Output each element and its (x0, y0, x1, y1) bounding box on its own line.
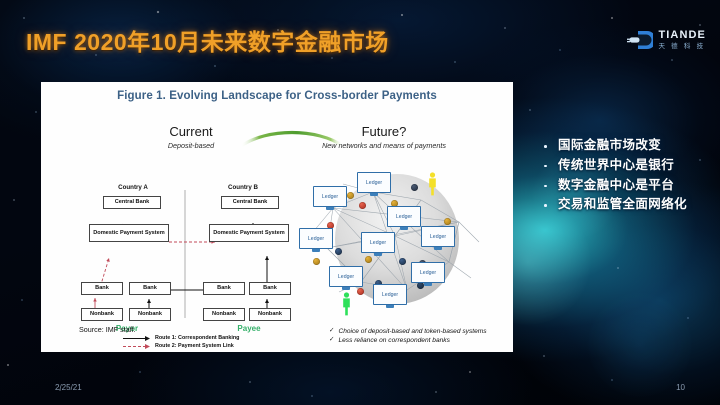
node-bank-b1: Bank (203, 282, 245, 295)
page-title: IMF 2020年10月未来数字金融市场 (26, 23, 389, 57)
tiande-plug-logo-icon (627, 29, 653, 51)
benefit-item: ✓ Less reliance on correspondent banks (329, 337, 487, 344)
solid-arrow-icon (123, 335, 151, 342)
ledger-node: Ledger (313, 186, 347, 207)
network-node-dot (444, 218, 451, 225)
current-subheading-text: Deposit-based (131, 141, 251, 150)
ledger-node: Ledger (373, 284, 407, 305)
footer-date: 2/25/21 (55, 383, 82, 392)
network-node-dot (399, 258, 406, 265)
node-bank-b2: Bank (249, 282, 291, 295)
network-node-dot (357, 288, 364, 295)
future-subheading-text: New networks and means of payments (299, 141, 469, 150)
benefit-item: ✓ Choice of deposit-based and token-base… (329, 328, 487, 335)
node-central-bank-b: Central Bank (221, 196, 279, 209)
network-node-dot (411, 184, 418, 191)
slide-canvas: IMF 2020年10月未来数字金融市场 TIANDE 天 德 科 技 Figu… (0, 0, 720, 405)
dashed-arrow-icon (123, 343, 151, 350)
bullet-item-0: 国际金融市场改变 (536, 138, 712, 154)
person-yellow-icon (427, 172, 438, 196)
node-nonbank-a1: Nonbank (81, 308, 123, 321)
future-column-heading: Future? New networks and means of paymen… (299, 124, 469, 150)
legend-row-route2: Route 2: Payment System Link (123, 342, 239, 350)
ledger-node: Ledger (421, 226, 455, 247)
legend-row-route1: Route 1: Correspondent Banking (123, 334, 239, 342)
figure-body: Current Deposit-based Future? Ne (41, 102, 513, 340)
route-legend: Route 1: Correspondent Banking Route 2: … (123, 334, 239, 350)
network-node-dot (313, 258, 320, 265)
figure-panel: Figure 1. Evolving Landscape for Cross-b… (41, 82, 513, 352)
ledger-node: Ledger (299, 228, 333, 249)
node-domestic-payment-system-b: Domestic Payment System (209, 224, 289, 242)
brand-logo: TIANDE 天 德 科 技 (627, 29, 706, 51)
current-system-diagram: Country A Country B Central Bank Domesti… (81, 186, 294, 331)
legend-route1-text: Route 1: Correspondent Banking (155, 335, 239, 341)
bullet-item-3: 交易和监管全面网络化 (536, 197, 712, 213)
figure-title: Figure 1. Evolving Landscape for Cross-b… (41, 90, 513, 102)
check-icon: ✓ (329, 328, 334, 335)
ledger-node: Ledger (411, 262, 445, 283)
benefit-text: Less reliance on correspondent banks (338, 337, 449, 344)
legend-route2-text: Route 2: Payment System Link (155, 343, 234, 349)
current-column-heading: Current Deposit-based (131, 124, 251, 150)
node-central-bank-a: Central Bank (103, 196, 161, 209)
network-node-dot (417, 282, 424, 289)
check-icon: ✓ (329, 337, 334, 344)
network-node-dot (365, 256, 372, 263)
future-network-diagram: Ledger Ledger Ledger Ledger Ledger Ledge… (299, 170, 507, 320)
node-nonbank-b2: Nonbank (249, 308, 291, 321)
ledger-node: Ledger (387, 206, 421, 227)
network-node-dot (347, 192, 354, 199)
logo-name-cn: 天 德 科 技 (658, 44, 706, 51)
ledger-node: Ledger (361, 232, 395, 253)
network-node-dot (359, 202, 366, 209)
bullet-item-2: 数字金融中心是平台 (536, 178, 712, 194)
footer-page-number: 10 (676, 383, 685, 392)
benefit-text: Choice of deposit-based and token-based … (338, 328, 486, 335)
logo-name: TIANDE (658, 30, 706, 41)
node-nonbank-b1: Nonbank (203, 308, 245, 321)
ledger-node: Ledger (329, 266, 363, 287)
payee-label: Payee (219, 324, 279, 333)
ledger-node: Ledger (357, 172, 391, 193)
bullet-list: 国际金融市场改变 传统世界中心是银行 数字金融中心是平台 交易和监管全面网络化 (536, 138, 712, 217)
node-domestic-payment-system-a: Domestic Payment System (89, 224, 169, 242)
node-bank-a2: Bank (129, 282, 171, 295)
future-benefits-list: ✓ Choice of deposit-based and token-base… (329, 328, 487, 347)
network-node-dot (335, 248, 342, 255)
bullet-item-1: 传统世界中心是银行 (536, 158, 712, 174)
future-heading-text: Future? (299, 124, 469, 139)
country-a-label: Country A (91, 184, 175, 191)
node-bank-a1: Bank (81, 282, 123, 295)
current-heading-text: Current (131, 124, 251, 139)
node-nonbank-a2: Nonbank (129, 308, 171, 321)
person-green-icon (341, 292, 352, 316)
figure-source: Source: IMF staff. (79, 325, 136, 334)
country-b-label: Country B (201, 184, 285, 191)
